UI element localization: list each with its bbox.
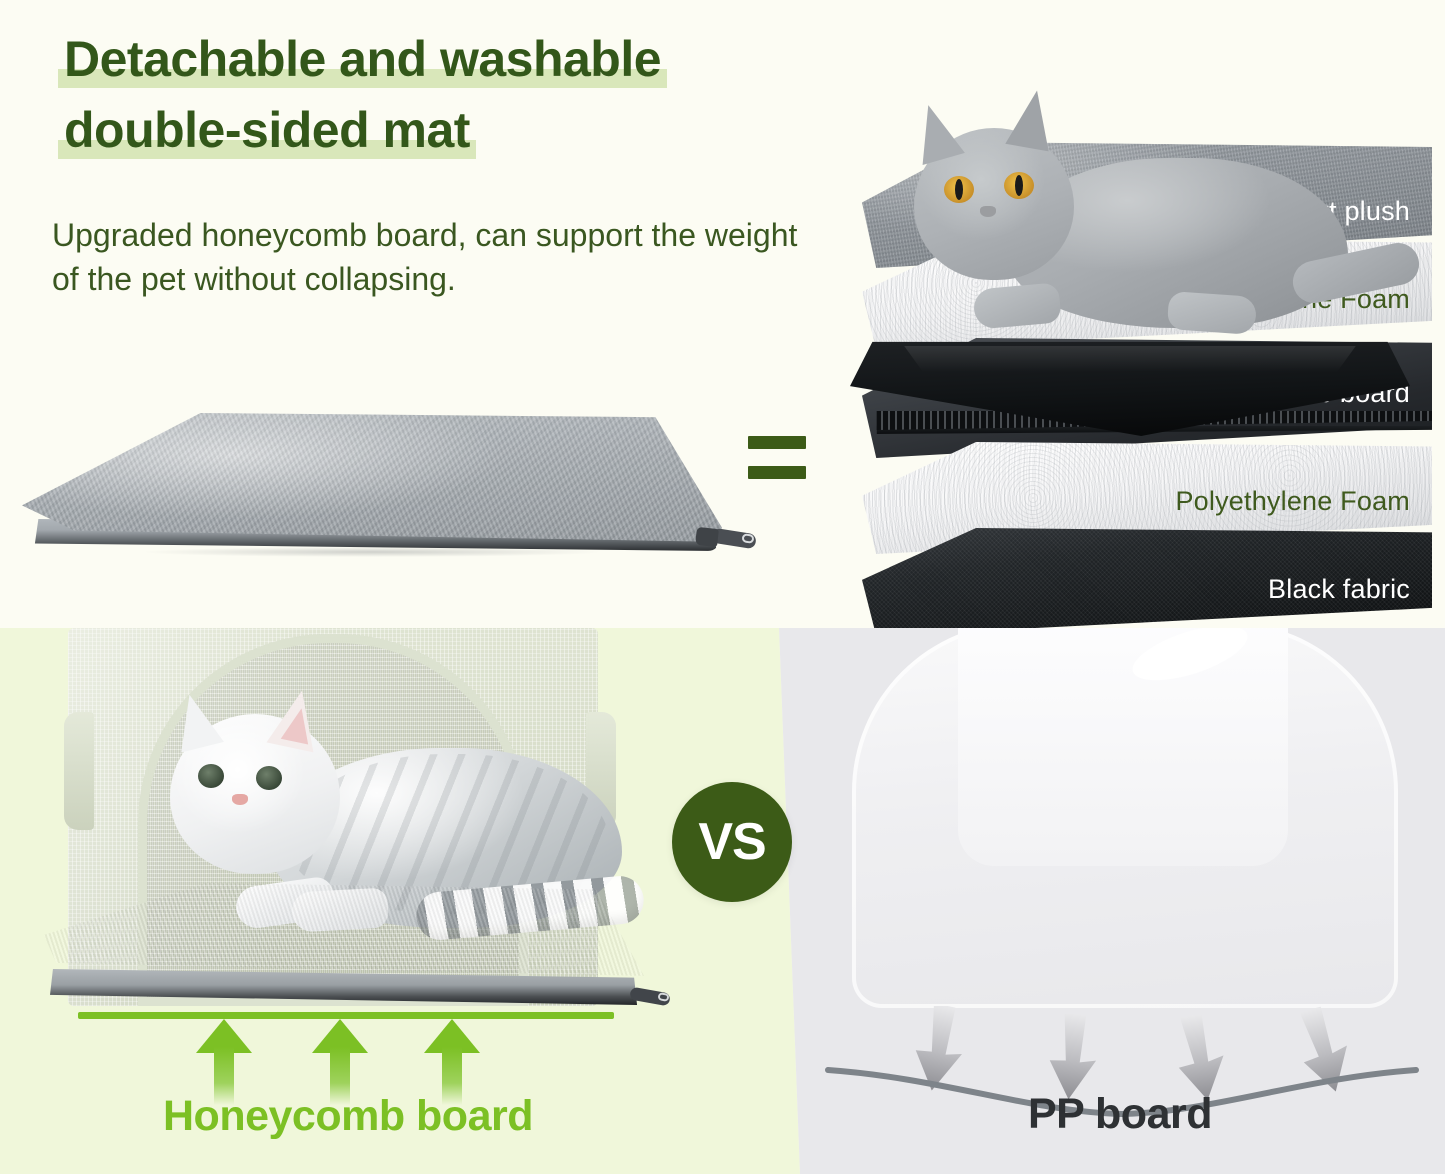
layer-label: Polyethylene Foam (1175, 486, 1410, 517)
page-subtitle: Upgraded honeycomb board, can support th… (52, 214, 812, 301)
honeycomb-mat-flat (44, 883, 644, 1015)
pp-board-label: PP board (830, 1090, 1410, 1139)
mat-highlight (895, 346, 1365, 372)
cat-nose (232, 794, 248, 805)
carrier-strap-left (64, 712, 94, 830)
zipper-pull-icon (618, 986, 672, 1012)
page-title-line-1-text: Detachable and washable (64, 31, 661, 87)
cat-paw-front-left (972, 282, 1061, 329)
cat-ear-left (168, 689, 224, 752)
support-line-flat (78, 1012, 614, 1019)
page-title-line-2-text: double-sided mat (64, 102, 470, 158)
gray-shorthair-cat (900, 70, 1420, 370)
cat-eye-right (256, 766, 282, 790)
honeycomb-board-label: Honeycomb board (78, 1092, 618, 1141)
cat-eye-left (944, 176, 974, 203)
cat-ear-right (1005, 87, 1058, 152)
mat-body (22, 413, 722, 553)
pp-board-mat-sagging (850, 340, 1410, 460)
cat-ear-left (907, 99, 965, 165)
carrier-window (958, 628, 1288, 866)
layer-black-fabric: Black fabric (862, 528, 1432, 636)
title-block: Detachable and washable double-sided mat (58, 34, 878, 176)
page-title-line-2: double-sided mat (58, 105, 476, 159)
infographic-page: Detachable and washable double-sided mat… (0, 0, 1445, 1174)
equals-bar-top (748, 436, 806, 449)
product-mat-illustration (12, 395, 752, 595)
vs-badge-text: VS (698, 816, 765, 868)
page-title-line-1: Detachable and washable (58, 34, 667, 88)
pet-carrier-transparent (830, 628, 1420, 1022)
cat-eye-right (1004, 172, 1034, 199)
cat-eye-left (198, 764, 224, 788)
cat-nose (980, 206, 996, 217)
zipper-slider (695, 527, 719, 547)
mat-side-edge (50, 969, 640, 1005)
equals-icon (748, 432, 810, 488)
equals-bar-bottom (748, 466, 806, 479)
cat-paw-front-right (1167, 291, 1257, 335)
vs-badge: VS (672, 782, 792, 902)
layer-label: Black fabric (1268, 574, 1410, 605)
zipper-pull-icon (696, 526, 758, 556)
